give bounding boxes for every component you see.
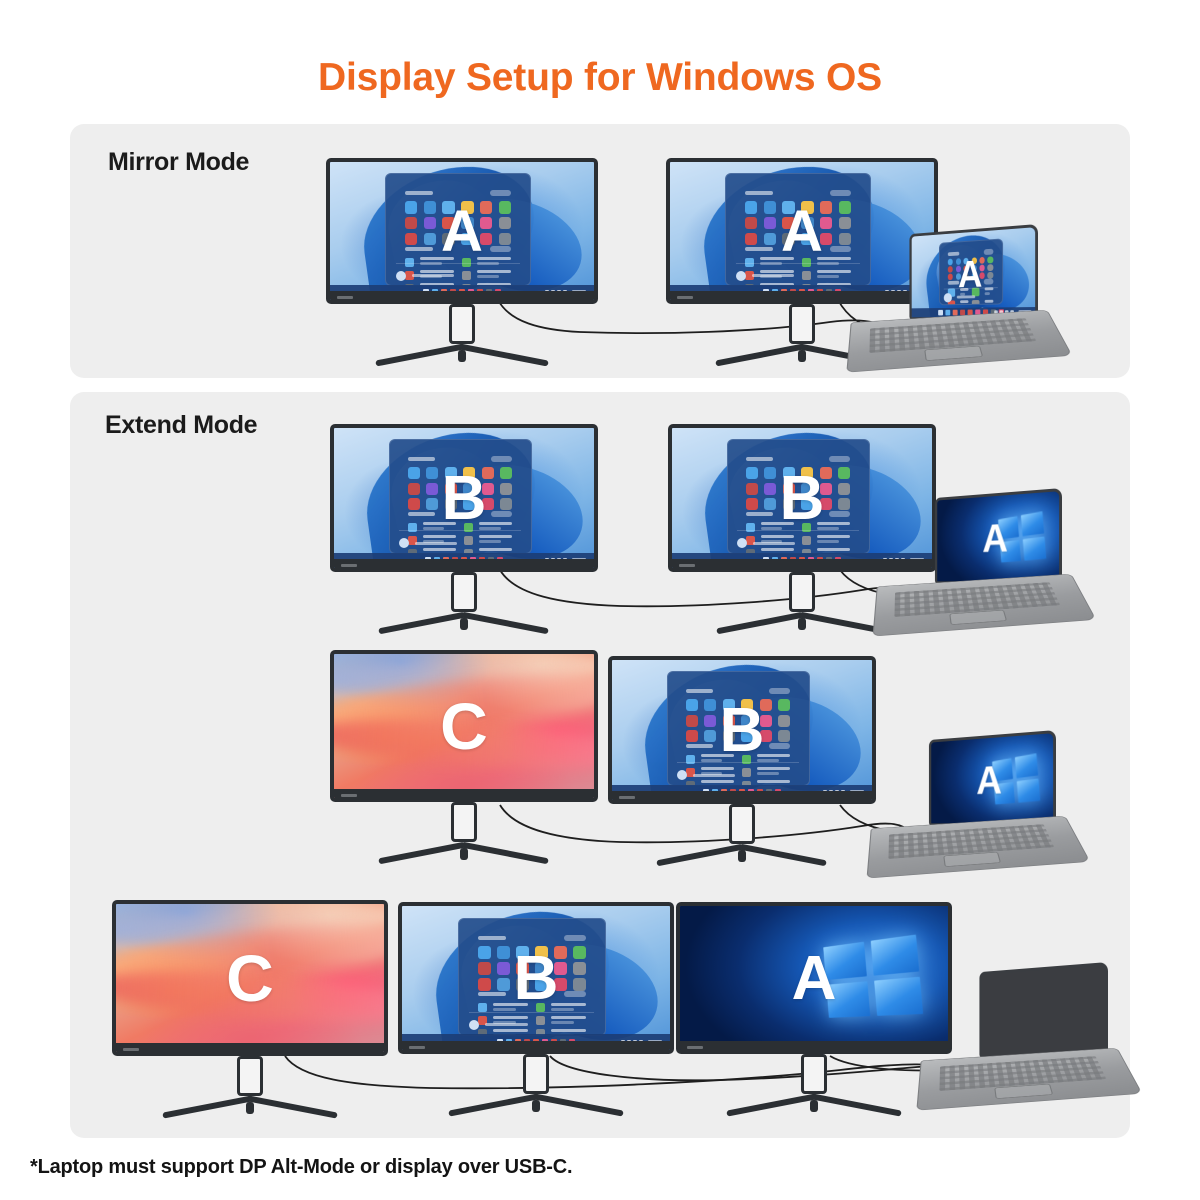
app-icon[interactable] bbox=[980, 257, 985, 263]
pinned-label bbox=[405, 191, 433, 195]
app-icon[interactable] bbox=[839, 201, 851, 213]
app-icon[interactable] bbox=[956, 266, 961, 272]
start-menu-footer bbox=[469, 1012, 594, 1030]
stand-neck bbox=[729, 804, 755, 844]
app-icon[interactable] bbox=[535, 978, 548, 991]
avatar[interactable] bbox=[469, 1020, 479, 1030]
app-icon[interactable] bbox=[499, 233, 511, 245]
app-icon[interactable] bbox=[741, 699, 753, 711]
monitor-b[interactable]: B bbox=[608, 656, 876, 866]
app-icon[interactable] bbox=[500, 498, 512, 510]
avatar[interactable] bbox=[399, 538, 409, 548]
monitor-bezel: B bbox=[330, 424, 598, 572]
pinned-label bbox=[686, 689, 713, 693]
app-icon[interactable] bbox=[554, 962, 567, 975]
monitor-bezel: A bbox=[326, 158, 598, 304]
app-icon[interactable] bbox=[461, 217, 473, 229]
app-icon[interactable] bbox=[424, 217, 436, 229]
app-icon[interactable] bbox=[480, 201, 492, 213]
start-menu-pinned-row bbox=[948, 248, 993, 256]
laptop-icon[interactable]: A bbox=[872, 730, 1082, 906]
all-apps-button[interactable] bbox=[769, 688, 790, 694]
start-menu-app-grid bbox=[478, 946, 586, 984]
app-icon[interactable] bbox=[980, 272, 985, 278]
app-icon[interactable] bbox=[535, 946, 548, 959]
text-line bbox=[760, 257, 794, 260]
app-icon[interactable] bbox=[463, 498, 475, 510]
app-icon[interactable] bbox=[426, 483, 438, 495]
app-icon[interactable] bbox=[723, 730, 735, 742]
app-icon[interactable] bbox=[704, 730, 716, 742]
taskbar-app-icon[interactable] bbox=[945, 310, 950, 316]
stand-leg-center bbox=[798, 350, 806, 362]
monitor-chin bbox=[116, 1043, 384, 1052]
app-icon[interactable] bbox=[820, 483, 832, 495]
laptop-lid: A bbox=[909, 224, 1038, 320]
monitor-screen[interactable]: A bbox=[680, 906, 948, 1050]
app-icon[interactable] bbox=[801, 467, 813, 479]
app-icon[interactable] bbox=[500, 483, 512, 495]
laptop-base bbox=[873, 574, 1097, 637]
laptop-screen[interactable]: A bbox=[912, 227, 1035, 317]
app-icon[interactable] bbox=[838, 483, 850, 495]
text-line bbox=[817, 548, 850, 551]
app-icon[interactable] bbox=[971, 258, 976, 264]
wallpaper-windows-10-logo bbox=[937, 491, 1059, 581]
avatar[interactable] bbox=[944, 293, 952, 302]
extend-mode-label: Extend Mode bbox=[105, 411, 257, 440]
all-apps-button[interactable] bbox=[491, 456, 512, 462]
monitor-b[interactable]: B bbox=[398, 902, 674, 1116]
app-icon[interactable] bbox=[778, 699, 790, 711]
text-line bbox=[551, 1003, 586, 1006]
app-icon[interactable] bbox=[746, 498, 758, 510]
page-title: Display Setup for Windows OS bbox=[0, 56, 1200, 100]
infographic-root: Display Setup for Windows OS Mirror Mode… bbox=[0, 0, 1200, 1200]
avatar[interactable] bbox=[737, 538, 747, 548]
pinned-label bbox=[948, 251, 959, 255]
all-apps-button[interactable] bbox=[984, 248, 993, 254]
windows-logo-pane bbox=[1021, 511, 1044, 536]
laptop-screen[interactable]: A bbox=[931, 733, 1053, 823]
app-icon[interactable] bbox=[783, 467, 795, 479]
text-line bbox=[423, 548, 456, 551]
app-icon[interactable] bbox=[820, 233, 832, 245]
pinned-label bbox=[746, 457, 773, 461]
app-icon[interactable] bbox=[723, 715, 735, 727]
wallpaper-wave bbox=[116, 963, 384, 1031]
more-button[interactable] bbox=[490, 246, 511, 252]
monitor-chin bbox=[680, 1041, 948, 1050]
stand-leg-right bbox=[460, 343, 549, 366]
app-icon[interactable] bbox=[964, 273, 969, 279]
start-menu-recommended-row bbox=[405, 246, 511, 252]
app-icon[interactable] bbox=[686, 730, 698, 742]
app-icon[interactable] bbox=[704, 715, 716, 727]
app-icon[interactable] bbox=[760, 730, 772, 742]
text-line bbox=[817, 522, 850, 525]
wallpaper-abstract-gradient bbox=[116, 904, 384, 1052]
avatar[interactable] bbox=[396, 271, 406, 281]
app-icon[interactable] bbox=[499, 217, 511, 229]
monitor-stand-icon bbox=[330, 802, 598, 864]
app-icon[interactable] bbox=[988, 257, 993, 263]
monitor-screen[interactable]: B bbox=[612, 660, 872, 800]
avatar[interactable] bbox=[736, 271, 746, 281]
monitor-stand-icon bbox=[608, 804, 876, 866]
stand-neck bbox=[523, 1054, 549, 1094]
app-icon[interactable] bbox=[482, 467, 494, 479]
pinned-label bbox=[408, 457, 435, 461]
app-icon[interactable] bbox=[801, 483, 813, 495]
app-icon[interactable] bbox=[723, 699, 735, 711]
laptop-base bbox=[916, 1048, 1142, 1111]
taskbar-app-icon[interactable] bbox=[938, 310, 943, 316]
start-menu-pinned-row bbox=[408, 456, 513, 462]
app-icon[interactable] bbox=[535, 962, 548, 975]
more-button[interactable] bbox=[491, 511, 512, 517]
app-icon[interactable] bbox=[820, 217, 832, 229]
start-menu-pinned-row bbox=[686, 688, 791, 694]
laptop-screen[interactable]: A bbox=[937, 491, 1059, 581]
app-icon[interactable] bbox=[408, 498, 420, 510]
laptop-base bbox=[846, 310, 1072, 373]
text-line bbox=[701, 754, 734, 757]
app-icon[interactable] bbox=[783, 483, 795, 495]
brand-mark bbox=[619, 796, 635, 799]
app-icon[interactable] bbox=[971, 265, 976, 271]
stand-neck bbox=[801, 1054, 827, 1094]
app-icon[interactable] bbox=[760, 715, 772, 727]
laptop-screen[interactable] bbox=[982, 965, 1105, 1055]
windows-logo-pane bbox=[1000, 539, 1021, 562]
app-icon[interactable] bbox=[516, 978, 529, 991]
all-apps-button[interactable] bbox=[490, 190, 511, 196]
app-icon[interactable] bbox=[497, 978, 510, 991]
app-icon[interactable] bbox=[445, 467, 457, 479]
app-icon[interactable] bbox=[497, 962, 510, 975]
user-name bbox=[753, 542, 794, 545]
app-icon[interactable] bbox=[478, 946, 491, 959]
app-icon[interactable] bbox=[463, 483, 475, 495]
app-icon[interactable] bbox=[704, 699, 716, 711]
app-icon[interactable] bbox=[783, 498, 795, 510]
app-icon[interactable] bbox=[741, 730, 753, 742]
user-name bbox=[485, 1023, 528, 1026]
more-button[interactable] bbox=[564, 991, 586, 997]
wallpaper-abstract-gradient bbox=[334, 654, 594, 798]
app-icon[interactable] bbox=[554, 978, 567, 991]
monitor-bezel: C bbox=[112, 900, 388, 1056]
recommended-label bbox=[478, 992, 506, 996]
stand-leg-center bbox=[460, 848, 468, 860]
avatar[interactable] bbox=[677, 770, 687, 780]
stand-neck bbox=[789, 572, 815, 612]
windows-logo-pane bbox=[998, 516, 1019, 539]
monitor-a[interactable]: A bbox=[676, 902, 952, 1116]
app-icon[interactable] bbox=[499, 201, 511, 213]
app-icon[interactable] bbox=[573, 978, 586, 991]
start-menu-app-grid bbox=[405, 201, 511, 238]
start-menu-icon[interactable] bbox=[389, 439, 532, 554]
stand-leg-center bbox=[532, 1100, 540, 1112]
stand-leg-left bbox=[726, 1093, 817, 1116]
start-menu-icon[interactable] bbox=[939, 238, 1003, 305]
start-menu-pinned-row bbox=[746, 456, 851, 462]
app-icon[interactable] bbox=[764, 483, 776, 495]
user-name bbox=[752, 274, 794, 277]
stand-leg-center bbox=[798, 618, 806, 630]
app-icon[interactable] bbox=[516, 946, 529, 959]
app-icon[interactable] bbox=[746, 467, 758, 479]
monitor-screen[interactable]: C bbox=[116, 904, 384, 1052]
stand-leg-right bbox=[534, 1093, 625, 1116]
start-menu-app-grid bbox=[408, 467, 513, 504]
recommended-label bbox=[405, 247, 433, 251]
taskbar-app-icon[interactable] bbox=[953, 310, 958, 316]
monitor-chin bbox=[334, 789, 594, 798]
all-apps-button[interactable] bbox=[829, 456, 850, 462]
app-icon[interactable] bbox=[482, 483, 494, 495]
app-icon[interactable] bbox=[554, 946, 567, 959]
recommended-label bbox=[746, 512, 773, 516]
stand-neck bbox=[449, 304, 475, 344]
text-line bbox=[493, 1003, 528, 1006]
app-icon[interactable] bbox=[745, 201, 757, 213]
app-icon[interactable] bbox=[956, 273, 961, 279]
app-icon[interactable] bbox=[482, 498, 494, 510]
monitor-stand-icon bbox=[398, 1054, 674, 1116]
text-line bbox=[701, 780, 734, 783]
user-name bbox=[412, 274, 454, 277]
stand-neck bbox=[237, 1056, 263, 1096]
monitor-b[interactable]: B bbox=[330, 424, 598, 634]
app-icon[interactable] bbox=[760, 699, 772, 711]
windows-logo-pane bbox=[994, 781, 1015, 804]
start-menu-icon[interactable] bbox=[385, 173, 530, 286]
app-icon[interactable] bbox=[764, 201, 776, 213]
text-line bbox=[479, 548, 512, 551]
app-icon[interactable] bbox=[820, 467, 832, 479]
user-name bbox=[415, 542, 456, 545]
app-icon[interactable] bbox=[764, 217, 776, 229]
start-menu-icon[interactable] bbox=[667, 671, 810, 786]
start-menu-icon[interactable] bbox=[458, 918, 605, 1036]
laptop-icon[interactable] bbox=[922, 962, 1134, 1138]
app-icon[interactable] bbox=[442, 201, 454, 213]
app-icon[interactable] bbox=[408, 467, 420, 479]
app-icon[interactable] bbox=[988, 272, 993, 278]
app-icon[interactable] bbox=[408, 483, 420, 495]
monitor-a[interactable]: A bbox=[326, 158, 598, 366]
brand-mark bbox=[341, 794, 357, 797]
monitor-screen[interactable]: C bbox=[334, 654, 594, 798]
app-icon[interactable] bbox=[948, 274, 953, 280]
monitor-screen[interactable]: A bbox=[330, 162, 594, 300]
start-menu-icon[interactable] bbox=[727, 439, 870, 554]
start-menu-footer bbox=[396, 263, 519, 281]
laptop-icon[interactable]: A bbox=[852, 224, 1064, 400]
monitor-stand-icon bbox=[326, 304, 598, 366]
all-apps-button[interactable] bbox=[830, 190, 851, 196]
all-apps-button[interactable] bbox=[564, 935, 586, 941]
windows-logo-pane bbox=[1015, 753, 1038, 778]
app-icon[interactable] bbox=[480, 233, 492, 245]
stand-neck bbox=[789, 304, 815, 344]
app-icon[interactable] bbox=[801, 201, 813, 213]
windows-logo-pane bbox=[826, 981, 870, 1017]
app-icon[interactable] bbox=[839, 233, 851, 245]
app-icon[interactable] bbox=[948, 259, 953, 265]
start-menu-icon[interactable] bbox=[725, 173, 870, 286]
more-button[interactable] bbox=[829, 511, 850, 517]
app-icon[interactable] bbox=[988, 264, 993, 270]
app-icon[interactable] bbox=[405, 217, 417, 229]
app-icon[interactable] bbox=[971, 273, 976, 279]
stand-leg-right bbox=[462, 842, 550, 865]
app-icon[interactable] bbox=[405, 201, 417, 213]
app-icon[interactable] bbox=[764, 233, 776, 245]
monitor-chin bbox=[612, 791, 872, 800]
app-icon[interactable] bbox=[980, 265, 985, 271]
recommended-label bbox=[686, 744, 713, 748]
text-line bbox=[757, 780, 790, 783]
app-icon[interactable] bbox=[686, 699, 698, 711]
app-icon[interactable] bbox=[838, 467, 850, 479]
start-menu-app-grid bbox=[948, 257, 993, 277]
start-menu-recommended-row bbox=[948, 278, 993, 285]
app-icon[interactable] bbox=[516, 962, 529, 975]
text-line bbox=[479, 522, 512, 525]
monitor-c[interactable]: C bbox=[330, 650, 598, 864]
stand-leg-left bbox=[162, 1095, 253, 1118]
app-icon[interactable] bbox=[426, 498, 438, 510]
app-icon[interactable] bbox=[839, 217, 851, 229]
app-icon[interactable] bbox=[964, 266, 969, 272]
brand-mark bbox=[123, 1048, 139, 1051]
app-icon[interactable] bbox=[764, 467, 776, 479]
app-icon[interactable] bbox=[424, 201, 436, 213]
brand-mark bbox=[679, 564, 695, 567]
monitor-chin bbox=[330, 291, 594, 300]
more-button[interactable] bbox=[830, 246, 851, 252]
app-icon[interactable] bbox=[461, 201, 473, 213]
app-icon[interactable] bbox=[426, 467, 438, 479]
app-icon[interactable] bbox=[442, 217, 454, 229]
app-icon[interactable] bbox=[497, 946, 510, 959]
app-icon[interactable] bbox=[782, 217, 794, 229]
app-icon[interactable] bbox=[782, 233, 794, 245]
stand-leg-center bbox=[460, 618, 468, 630]
monitor-c[interactable]: C bbox=[112, 900, 388, 1118]
monitor-screen[interactable]: B bbox=[334, 428, 594, 568]
user-name bbox=[693, 774, 734, 777]
app-icon[interactable] bbox=[478, 962, 491, 975]
start-menu-footer bbox=[737, 530, 858, 548]
app-icon[interactable] bbox=[964, 258, 969, 264]
wallpaper-windows-10-logo bbox=[931, 733, 1053, 823]
stand-leg-right bbox=[812, 1093, 903, 1116]
app-icon[interactable] bbox=[745, 233, 757, 245]
brand-mark bbox=[677, 296, 693, 299]
app-icon[interactable] bbox=[686, 715, 698, 727]
text-line bbox=[551, 1008, 574, 1011]
app-icon[interactable] bbox=[801, 498, 813, 510]
more-button[interactable] bbox=[769, 743, 790, 749]
windows-logo-pane bbox=[874, 976, 924, 1015]
laptop-base bbox=[867, 816, 1091, 879]
app-icon[interactable] bbox=[445, 483, 457, 495]
app-icon[interactable] bbox=[746, 483, 758, 495]
recommended-label bbox=[745, 247, 773, 251]
wallpaper-wave bbox=[334, 712, 594, 778]
start-menu-recommended-row bbox=[408, 511, 513, 517]
monitor-chin bbox=[402, 1041, 670, 1050]
text-line bbox=[420, 257, 454, 260]
windows-logo-icon bbox=[998, 511, 1046, 562]
app-icon[interactable] bbox=[463, 467, 475, 479]
app-icon[interactable] bbox=[480, 217, 492, 229]
app-icon[interactable] bbox=[801, 233, 813, 245]
monitor-stand-icon bbox=[676, 1054, 952, 1116]
app-icon[interactable] bbox=[478, 978, 491, 991]
stand-leg-left bbox=[378, 612, 466, 635]
more-button[interactable] bbox=[984, 278, 993, 284]
text-line bbox=[493, 1008, 516, 1011]
recommended-label bbox=[948, 281, 959, 285]
app-icon[interactable] bbox=[778, 730, 790, 742]
monitor-chin bbox=[334, 559, 594, 568]
stand-leg-left bbox=[448, 1093, 539, 1116]
app-icon[interactable] bbox=[956, 259, 961, 265]
app-icon[interactable] bbox=[573, 962, 586, 975]
footnote: *Laptop must support DP Alt-Mode or disp… bbox=[30, 1156, 572, 1179]
start-menu-pinned-row bbox=[478, 935, 586, 941]
monitor-screen[interactable]: B bbox=[402, 906, 670, 1050]
start-menu-footer bbox=[736, 263, 859, 281]
app-icon[interactable] bbox=[820, 498, 832, 510]
stand-leg-center bbox=[810, 1100, 818, 1112]
app-icon[interactable] bbox=[573, 946, 586, 959]
app-icon[interactable] bbox=[782, 201, 794, 213]
app-icon[interactable] bbox=[445, 498, 457, 510]
app-icon[interactable] bbox=[745, 217, 757, 229]
stand-leg-left bbox=[656, 844, 744, 867]
stand-leg-center bbox=[738, 850, 746, 862]
app-icon[interactable] bbox=[764, 498, 776, 510]
windows-logo-pane bbox=[823, 941, 867, 979]
monitor-bezel: A bbox=[676, 902, 952, 1054]
app-icon[interactable] bbox=[778, 715, 790, 727]
app-icon[interactable] bbox=[405, 233, 417, 245]
windows-logo-pane bbox=[992, 758, 1013, 781]
app-icon[interactable] bbox=[500, 467, 512, 479]
app-icon[interactable] bbox=[820, 201, 832, 213]
app-icon[interactable] bbox=[838, 498, 850, 510]
laptop-icon[interactable]: A bbox=[878, 488, 1088, 664]
app-icon[interactable] bbox=[741, 715, 753, 727]
stand-neck bbox=[451, 802, 477, 842]
app-icon[interactable] bbox=[801, 217, 813, 229]
app-icon[interactable] bbox=[948, 266, 953, 272]
app-icon[interactable] bbox=[442, 233, 454, 245]
laptop-lid bbox=[979, 962, 1108, 1058]
app-icon[interactable] bbox=[461, 233, 473, 245]
app-icon[interactable] bbox=[424, 233, 436, 245]
wallpaper-windows-10-logo bbox=[680, 906, 948, 1050]
windows-logo-pane bbox=[1017, 778, 1041, 802]
stand-leg-left bbox=[375, 343, 464, 366]
